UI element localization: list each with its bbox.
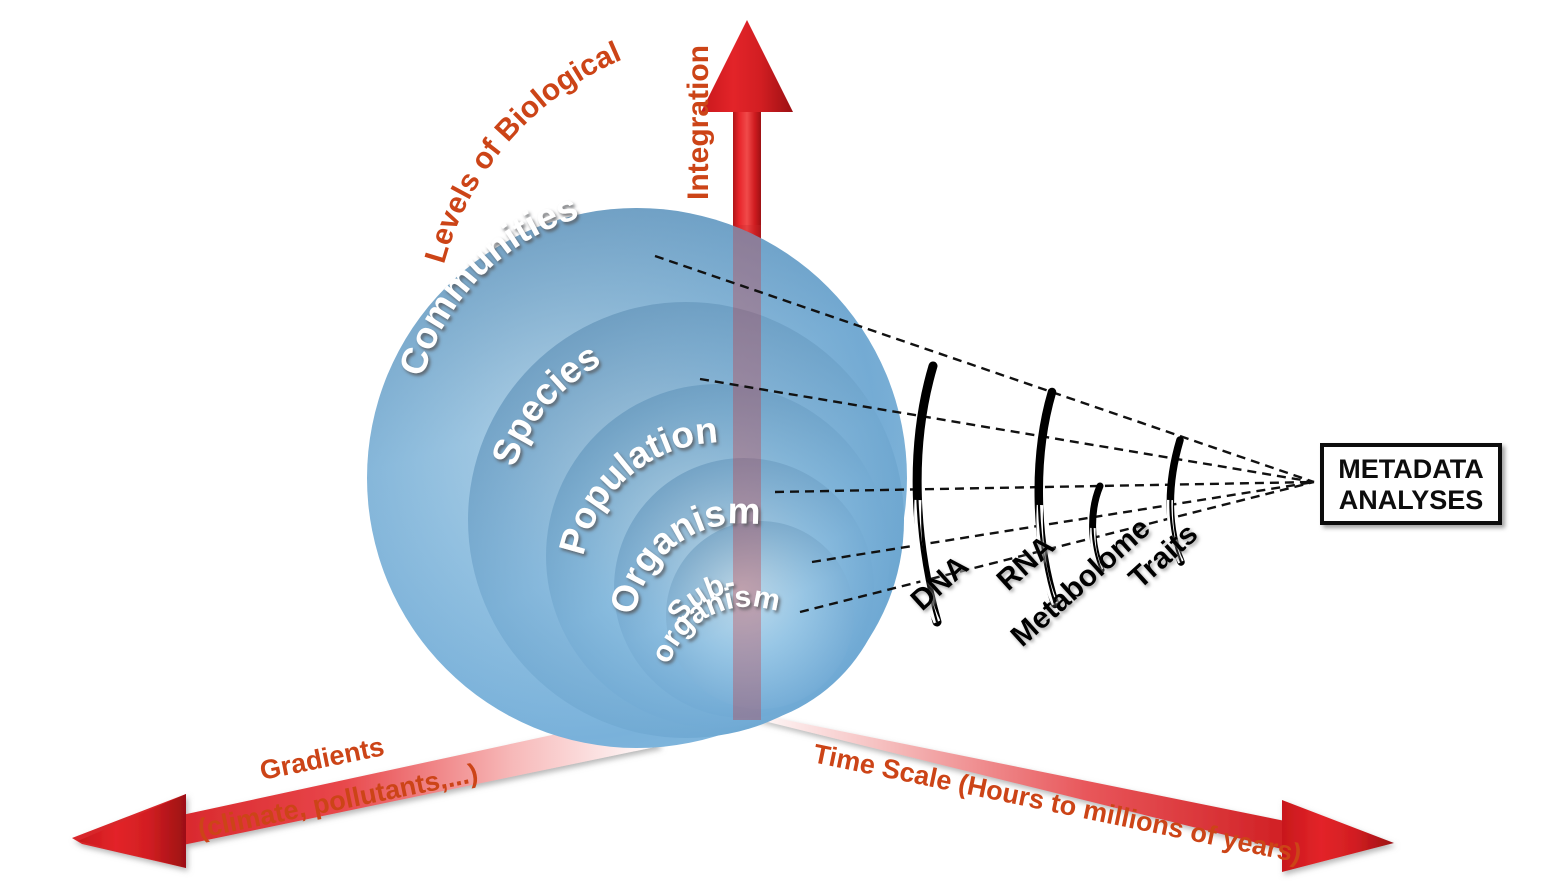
omics-labels: DNA RNA Metabolome Traits xyxy=(905,512,1205,654)
metadata-box-line1: METADATA xyxy=(1338,454,1483,484)
diagram-svg: Communities Species Population Organism … xyxy=(0,0,1552,894)
diagram-canvas: Communities Species Population Organism … xyxy=(0,0,1552,894)
axis-label-integration: Integration xyxy=(682,45,715,200)
metadata-box-line2: ANALYSES xyxy=(1339,485,1484,515)
axis-shaft-overlay xyxy=(733,225,761,720)
metadata-analyses-box[interactable]: METADATA ANALYSES xyxy=(1322,445,1500,523)
axis-label-time-scale: Time Scale (Hours to millions of years) xyxy=(811,738,1304,868)
omics-label-dna: DNA xyxy=(905,549,975,617)
